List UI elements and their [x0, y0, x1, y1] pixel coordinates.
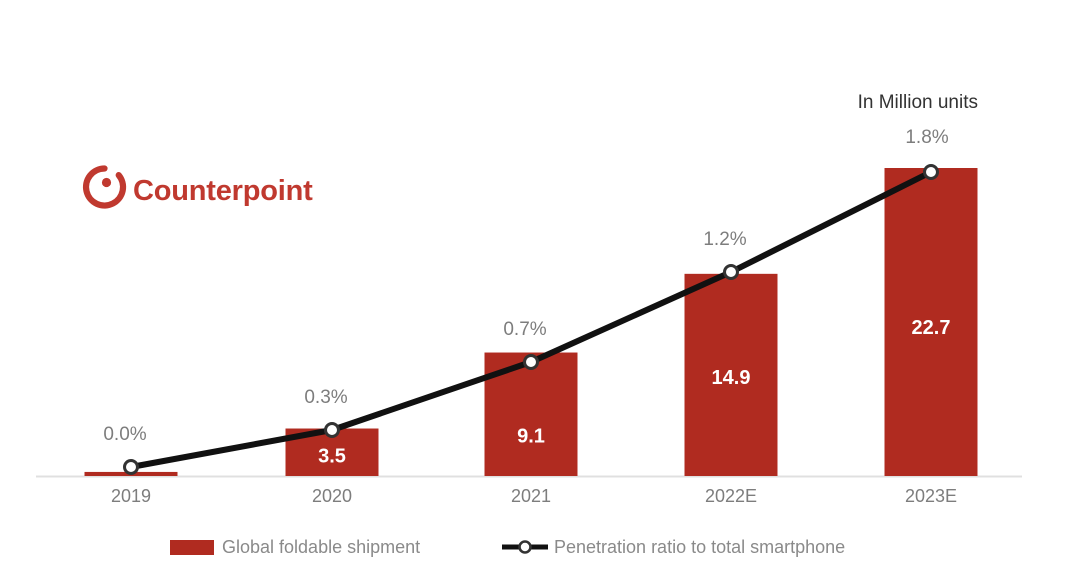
legend-item-bar[interactable]: Global foldable shipment — [170, 537, 420, 557]
x-tick-2020: 2020 — [312, 486, 352, 506]
x-tick-2021: 2021 — [511, 486, 551, 506]
legend-swatch-icon — [170, 540, 214, 555]
legend-label: Global foldable shipment — [222, 537, 420, 557]
units-note-label: In Million units — [858, 92, 978, 113]
x-tick-2022e: 2022E — [705, 486, 757, 506]
foldable-shipment-chart: In Million units Counterpoint 3.59.114.9… — [0, 0, 1080, 579]
counterpoint-logo: Counterpoint — [86, 169, 313, 208]
penetration-label-2022e: 1.2% — [703, 229, 746, 250]
penetration-label-2023e: 1.8% — [905, 127, 948, 148]
chart-container: In Million units Counterpoint 3.59.114.9… — [0, 0, 1080, 579]
counterpoint-logo-text: Counterpoint — [133, 175, 313, 207]
legend-label: Penetration ratio to total smartphone — [554, 537, 845, 557]
penetration-label-2020: 0.3% — [304, 387, 347, 408]
bar-value-2022e: 14.9 — [712, 367, 751, 389]
penetration-label-2019: 0.0% — [103, 424, 146, 445]
x-tick-2019: 2019 — [111, 486, 151, 506]
penetration-marker-2022e[interactable] — [725, 266, 738, 279]
penetration-label-2021: 0.7% — [503, 319, 546, 340]
legend-marker-icon — [520, 542, 531, 553]
penetration-marker-2023e[interactable] — [925, 166, 938, 179]
legend-item-line[interactable]: Penetration ratio to total smartphone — [502, 537, 845, 557]
penetration-marker-2019[interactable] — [125, 461, 138, 474]
bar-value-2023e: 22.7 — [912, 317, 951, 339]
x-tick-2023e: 2023E — [905, 486, 957, 506]
penetration-marker-2020[interactable] — [326, 424, 339, 437]
bar-value-2020: 3.5 — [318, 446, 346, 468]
penetration-marker-2021[interactable] — [525, 356, 538, 369]
bar-value-2021: 9.1 — [517, 426, 545, 448]
